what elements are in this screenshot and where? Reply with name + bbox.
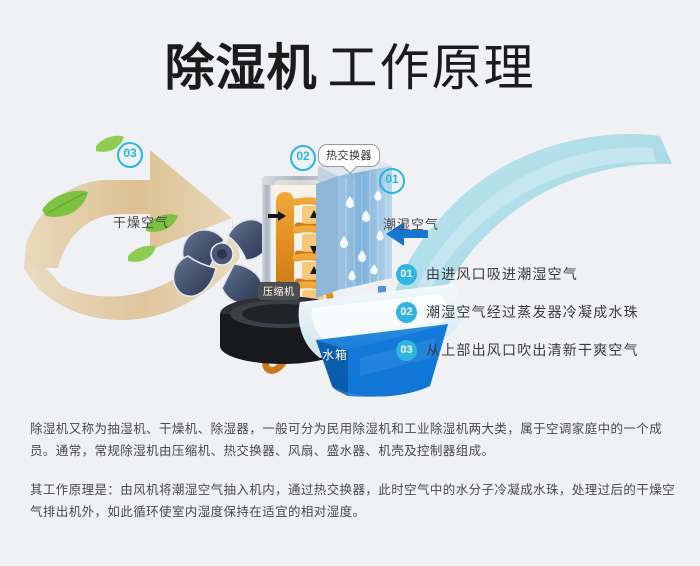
humid-air-badge: 01 [379, 168, 405, 194]
legend-item-03: 03 从上部出风口吹出清新干爽空气 [396, 331, 686, 369]
paragraph-2: 其工作原理是：由风机将潮湿空气抽入机内，通过热交换器，此时空气中的水分子冷凝成水… [30, 479, 675, 523]
heat-exchanger-badge: 02 [290, 145, 316, 171]
legend-list: 01 由进风口吸进潮湿空气 02 潮湿空气经过蒸发器冷凝成水珠 03 从上部出风… [396, 255, 686, 369]
legend-text-02: 潮湿空气经过蒸发器冷凝成水珠 [426, 302, 639, 322]
humid-air-label: 潮湿空气 [383, 214, 439, 233]
legend-badge-02: 02 [396, 302, 417, 323]
paragraph-1: 除湿机又称为抽湿机、干燥机、除湿器，一般可分为民用除湿机和工业除湿机两大类，属于… [30, 418, 675, 462]
legend-item-01: 01 由进风口吸进潮湿空气 [396, 255, 686, 293]
legend-text-03: 从上部出风口吹出清新干爽空气 [426, 340, 639, 360]
page-title-bold: 除湿机 [165, 40, 318, 96]
legend-badge-03: 03 [396, 340, 417, 361]
dry-air-badge: 03 [117, 142, 143, 168]
compressor-label: 压缩机 [258, 282, 300, 300]
legend-badge-01: 01 [396, 264, 417, 285]
page-title-light: 工作原理 [328, 40, 536, 96]
water-tank-label: 水箱 [322, 346, 348, 363]
page-title: 除湿机工作原理 [0, 28, 700, 100]
body-copy: 除湿机又称为抽湿机、干燥机、除湿器，一般可分为民用除湿机和工业除湿机两大类，属于… [30, 418, 675, 540]
legend-text-01: 由进风口吸进潮湿空气 [426, 264, 578, 284]
legend-item-02: 02 潮湿空气经过蒸发器冷凝成水珠 [396, 293, 686, 331]
heat-exchanger-bubble: 热交换器 [318, 144, 380, 167]
dry-air-label: 干燥空气 [113, 212, 169, 231]
